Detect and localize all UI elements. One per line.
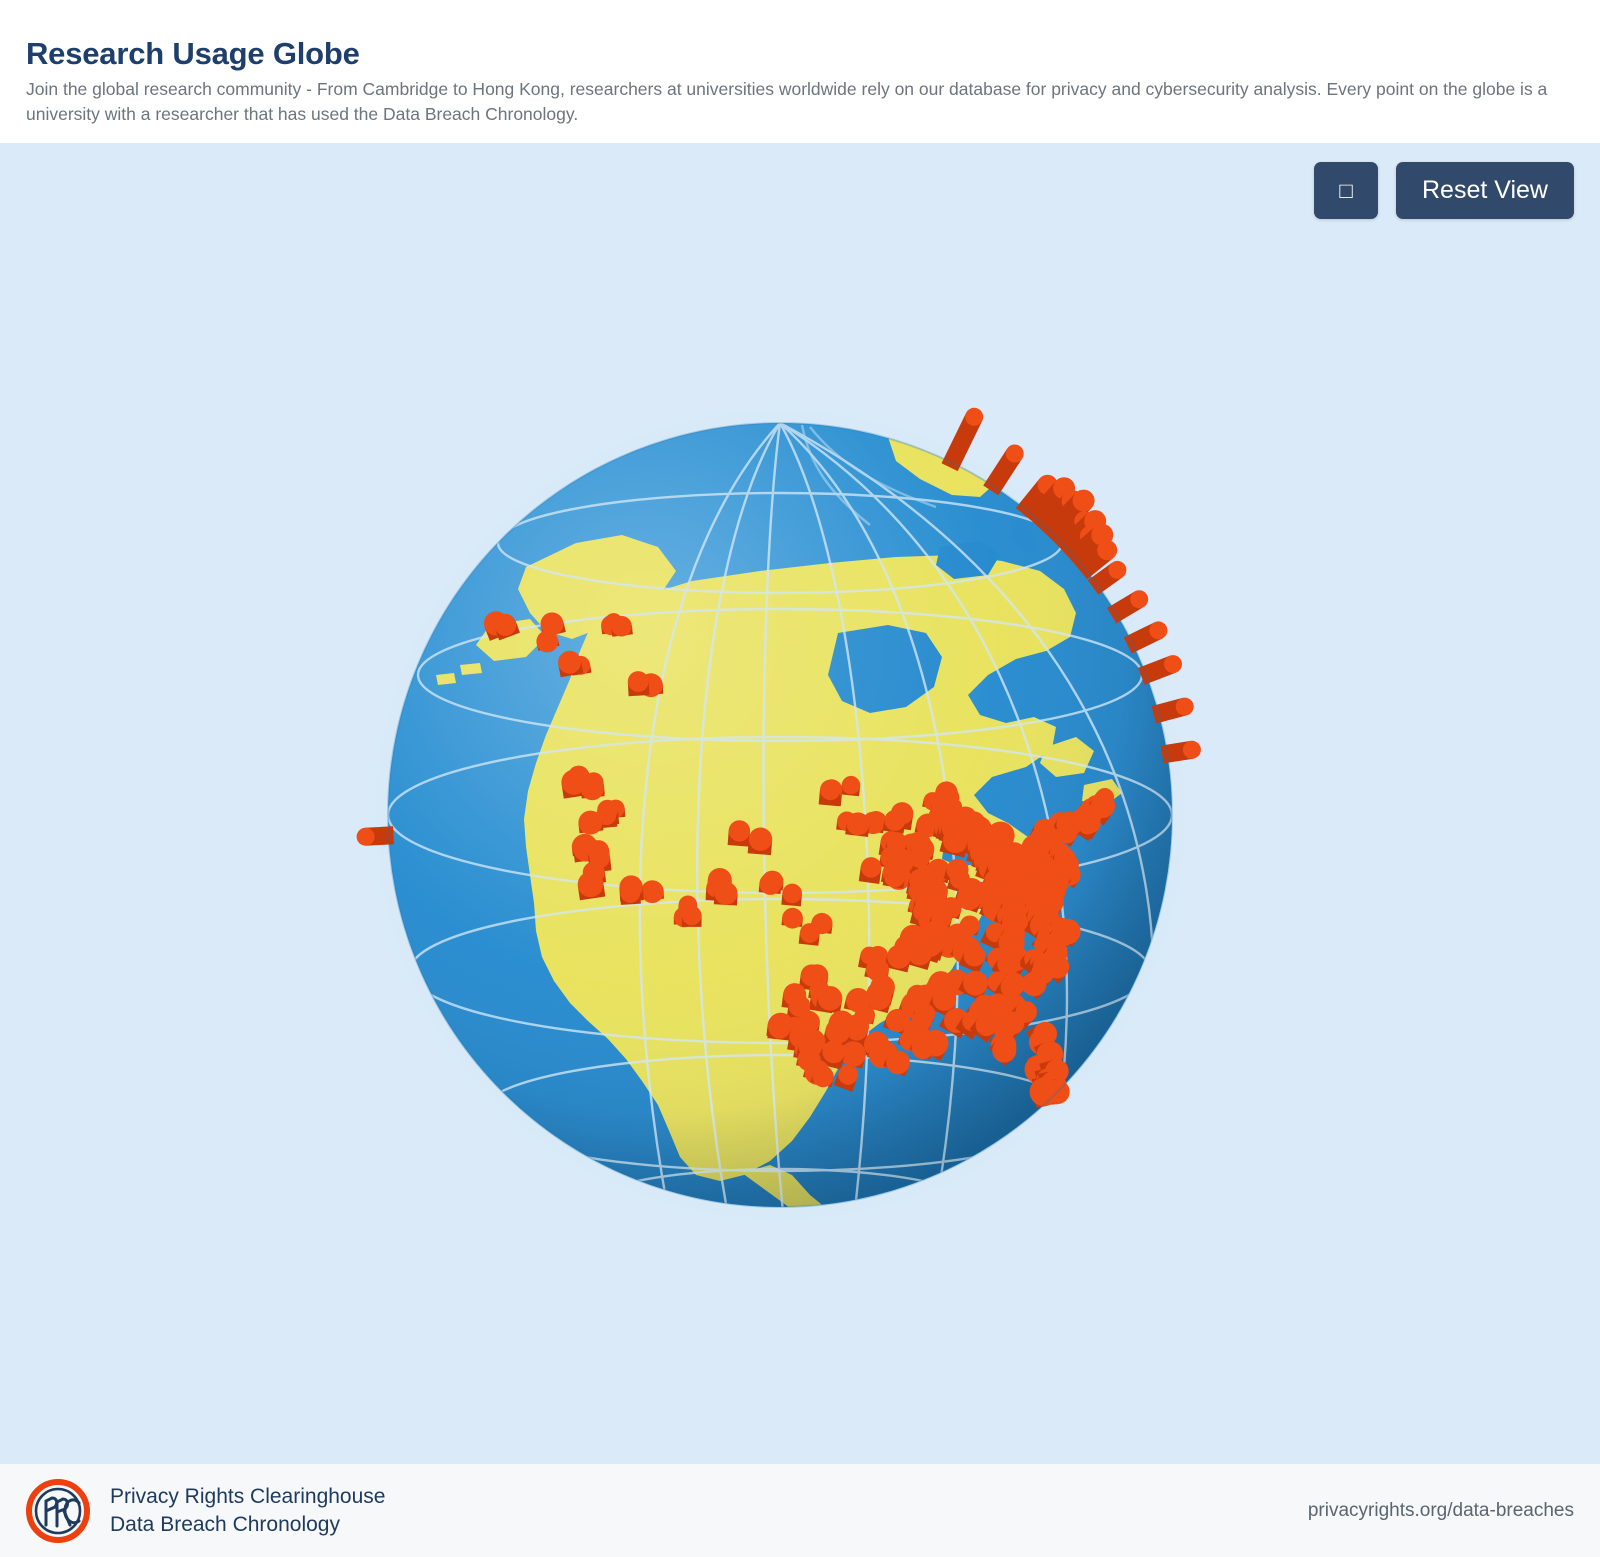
university-marker[interactable] (912, 1037, 935, 1060)
university-marker[interactable] (494, 614, 516, 637)
prc-logo (26, 1479, 90, 1543)
university-marker[interactable] (884, 810, 905, 832)
university-marker[interactable] (581, 777, 604, 800)
university-marker[interactable] (943, 828, 968, 855)
university-marker[interactable] (749, 828, 772, 855)
footer-url[interactable]: privacyrights.org/data-breaches (1308, 1500, 1574, 1522)
page-subtitle: Join the global research community - Fro… (26, 77, 1571, 127)
globe-visualization[interactable] (340, 375, 1220, 1255)
page-header: Research Usage Globe Join the global res… (0, 0, 1600, 143)
university-marker[interactable] (842, 776, 860, 795)
globe-stage[interactable] (0, 143, 1600, 1464)
page-footer: Privacy Rights Clearinghouse Data Breach… (0, 1464, 1600, 1557)
fullscreen-icon[interactable]: □ (1314, 162, 1378, 219)
university-marker[interactable] (818, 986, 843, 1012)
university-marker[interactable] (759, 873, 781, 895)
university-marker[interactable] (1030, 1077, 1059, 1106)
university-marker[interactable] (886, 1051, 910, 1075)
university-marker[interactable] (933, 987, 957, 1012)
university-marker[interactable] (992, 1038, 1016, 1062)
university-marker[interactable] (641, 880, 664, 903)
university-marker[interactable] (578, 811, 602, 835)
university-marker[interactable] (813, 1066, 834, 1087)
page-title: Research Usage Globe (26, 38, 1574, 69)
university-marker[interactable] (729, 820, 750, 846)
university-marker[interactable] (536, 631, 558, 653)
footer-brand: Privacy Rights Clearinghouse Data Breach… (110, 1483, 385, 1539)
university-marker[interactable] (820, 780, 841, 806)
footer-product-name: Data Breach Chronology (110, 1511, 385, 1539)
university-marker[interactable] (715, 882, 738, 905)
university-marker[interactable] (1022, 972, 1047, 997)
university-marker[interactable] (800, 923, 820, 945)
university-marker[interactable] (887, 945, 911, 970)
reset-view-button[interactable]: Reset View (1396, 162, 1574, 219)
university-marker[interactable] (769, 1017, 791, 1040)
globe-svg[interactable] (340, 375, 1220, 1255)
university-marker[interactable] (976, 1015, 998, 1037)
university-marker[interactable] (611, 616, 632, 637)
university-marker[interactable] (908, 941, 932, 966)
university-marker[interactable] (628, 671, 649, 696)
university-marker[interactable] (963, 971, 988, 996)
university-marker[interactable] (847, 812, 870, 835)
university-marker[interactable] (558, 651, 581, 675)
university-marker[interactable] (884, 867, 905, 888)
footer-org-name: Privacy Rights Clearinghouse (110, 1483, 385, 1511)
university-marker[interactable] (866, 985, 891, 1010)
university-marker[interactable] (861, 857, 882, 883)
university-marker[interactable] (578, 872, 604, 899)
university-marker[interactable] (620, 883, 640, 904)
globe-controls: □ Reset View (1314, 162, 1574, 219)
university-marker[interactable] (782, 908, 803, 929)
university-marker[interactable] (682, 906, 702, 927)
university-marker[interactable] (822, 1040, 845, 1066)
university-marker[interactable] (782, 884, 802, 906)
